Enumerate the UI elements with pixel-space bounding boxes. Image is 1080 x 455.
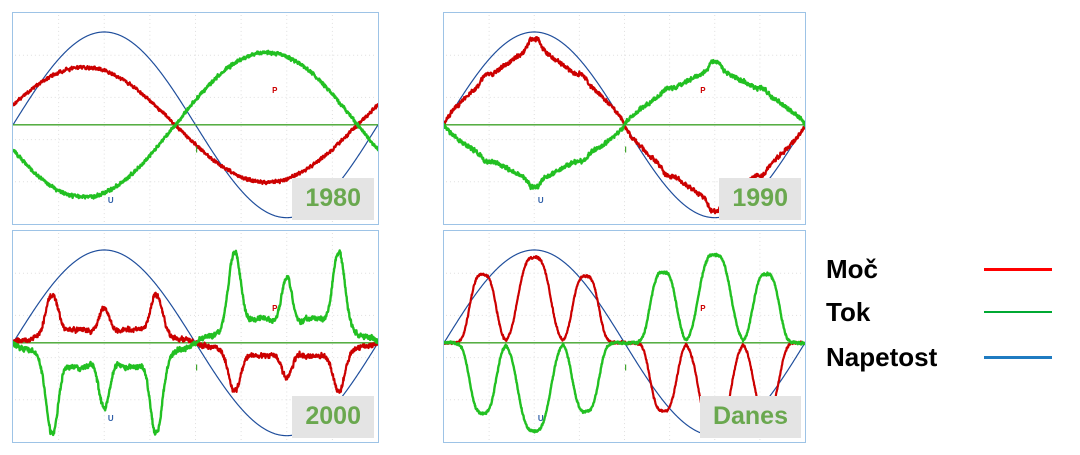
panel-danes: UIP Danes <box>443 230 806 443</box>
current-inline-label: I <box>625 145 627 154</box>
red-line-swatch-icon <box>984 268 1052 271</box>
green-line-swatch-icon <box>984 311 1052 313</box>
legend-label-current: Tok <box>826 299 984 325</box>
panel-1980: UIP 1980 <box>12 12 379 225</box>
voltage-inline-label: U <box>538 196 544 205</box>
year-badge-1990: 1990 <box>719 178 801 220</box>
power-inline-label: P <box>272 86 278 95</box>
legend-label-power: Moč <box>826 256 984 282</box>
voltage-inline-label: U <box>538 414 544 423</box>
current-inline-label: I <box>625 363 627 372</box>
power-inline-label: P <box>700 304 706 313</box>
legend-label-voltage: Napetost <box>826 344 984 370</box>
current-inline-label: I <box>196 363 198 372</box>
year-badge-1980: 1980 <box>292 178 374 220</box>
legend-item-voltage: Napetost <box>826 340 1066 374</box>
legend-item-power: Moč <box>826 252 1066 286</box>
power-inline-label: P <box>700 86 706 95</box>
legend-item-current: Tok <box>826 295 1066 329</box>
voltage-inline-label: U <box>108 196 114 205</box>
year-badge-danes: Danes <box>700 396 801 438</box>
voltage-inline-label: U <box>108 414 114 423</box>
panel-1990: UIP 1990 <box>443 12 806 225</box>
panel-grid: UIP 1980 UIP 1990 UIP 2000 UIP Danes <box>12 12 806 443</box>
blue-line-swatch-icon <box>984 356 1052 359</box>
panel-2000: UIP 2000 <box>12 230 379 443</box>
legend: Moč Tok Napetost <box>826 252 1066 377</box>
figure-root: UIP 1980 UIP 1990 UIP 2000 UIP Danes Moč… <box>0 0 1080 455</box>
current-inline-label: I <box>196 145 198 154</box>
year-badge-2000: 2000 <box>292 396 374 438</box>
power-inline-label: P <box>272 304 278 313</box>
